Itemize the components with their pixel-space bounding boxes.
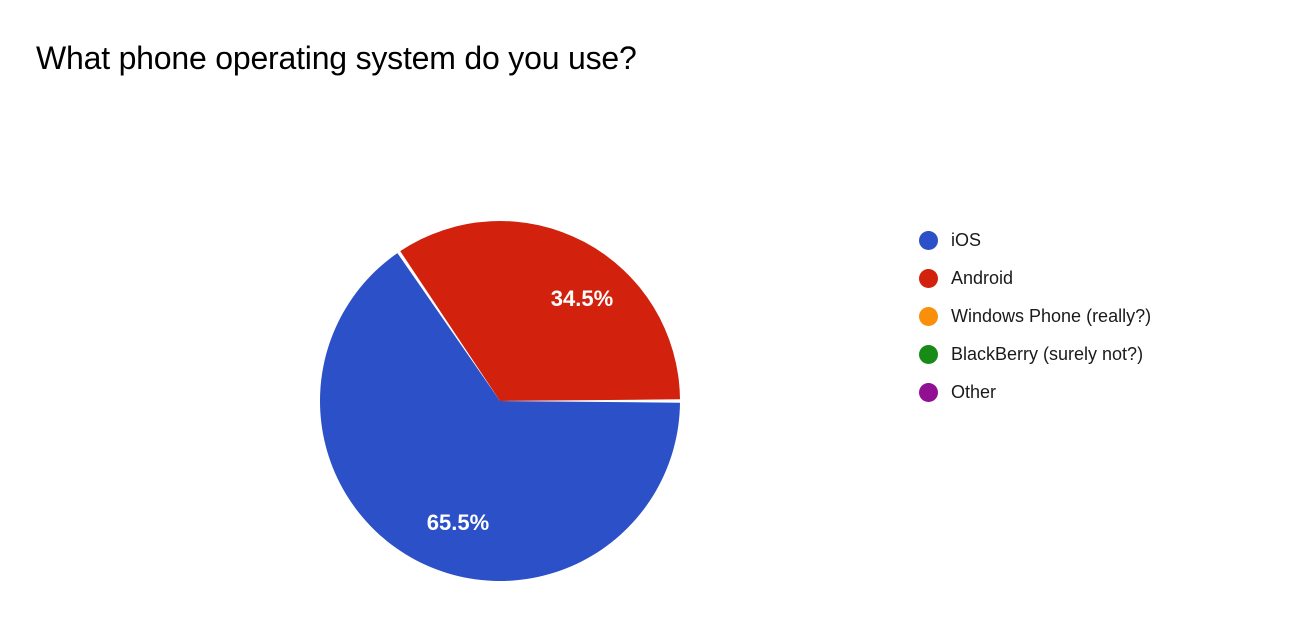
legend-swatch-icon: [919, 231, 938, 250]
legend-item-ios[interactable]: iOS: [919, 221, 1151, 259]
pie-slice-label-ios: 65.5%: [427, 510, 489, 535]
plot-area: 65.5% 34.5%: [0, 0, 900, 644]
legend-item-windows-phone[interactable]: Windows Phone (really?): [919, 297, 1151, 335]
pie-chart-card: What phone operating system do you use? …: [0, 0, 1290, 644]
legend-swatch-icon: [919, 345, 938, 364]
legend-item-label: iOS: [951, 229, 981, 251]
pie-svg: 65.5% 34.5%: [260, 161, 740, 641]
pie-slice-label-android: 34.5%: [551, 286, 613, 311]
pie-slices: [320, 221, 680, 581]
legend-item-label: BlackBerry (surely not?): [951, 343, 1143, 365]
legend-swatch-icon: [919, 307, 938, 326]
legend-item-label: Windows Phone (really?): [951, 305, 1151, 327]
legend-swatch-icon: [919, 383, 938, 402]
legend-swatch-icon: [919, 269, 938, 288]
legend-item-label: Other: [951, 381, 996, 403]
legend-item-other[interactable]: Other: [919, 373, 1151, 411]
legend-item-label: Android: [951, 267, 1013, 289]
chart-legend: iOS Android Windows Phone (really?) Blac…: [919, 221, 1151, 411]
legend-item-android[interactable]: Android: [919, 259, 1151, 297]
legend-item-blackberry[interactable]: BlackBerry (surely not?): [919, 335, 1151, 373]
